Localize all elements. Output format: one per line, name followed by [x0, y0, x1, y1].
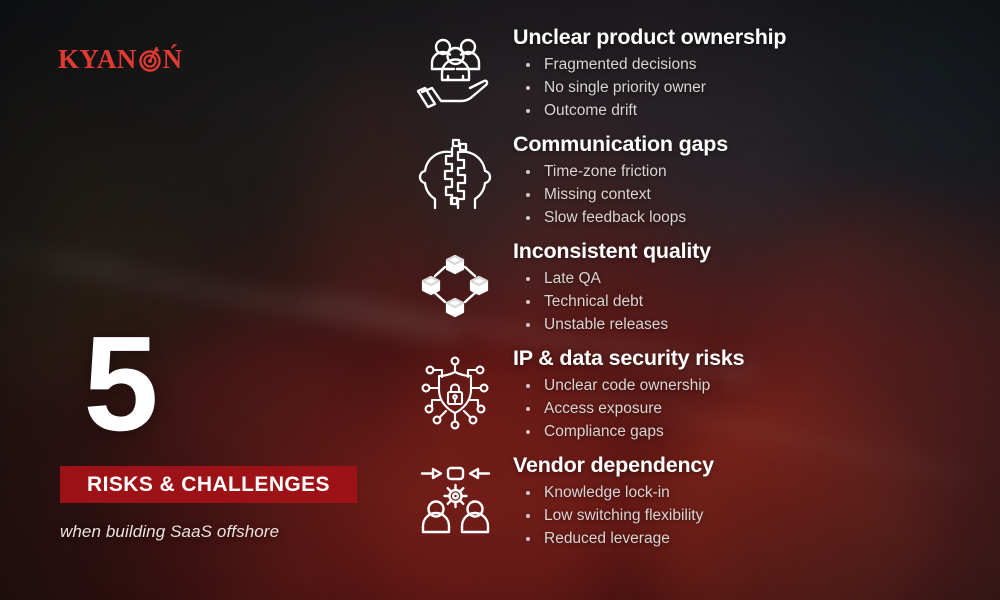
bullet-text: Knowledge lock-in	[544, 484, 670, 501]
logo-text-before: KYAN	[58, 44, 137, 75]
bullet-text: Reduced leverage	[544, 530, 670, 547]
bullet-dot-icon	[526, 300, 530, 304]
bullet-text: Compliance gaps	[544, 423, 664, 440]
bullet-text: Low switching flexibility	[544, 507, 703, 524]
bullet-list: Unclear code ownership Access exposure C…	[513, 374, 744, 443]
bullet-dot-icon	[526, 407, 530, 411]
list-item: IP & data security risks Unclear code ow…	[405, 343, 985, 450]
hero-block: 5 RISKS & CHALLENGES when building SaaS …	[0, 322, 400, 446]
list-item-bullet: Unstable releases	[513, 313, 711, 336]
bullet-dot-icon	[526, 170, 530, 174]
bullet-text: Slow feedback loops	[544, 209, 686, 226]
bullet-dot-icon	[526, 537, 530, 541]
hero-subtitle: when building SaaS offshore	[60, 522, 390, 542]
bullet-dot-icon	[526, 277, 530, 281]
list-item-bullet: Unclear code ownership	[513, 374, 744, 397]
bullet-text: Late QA	[544, 270, 601, 287]
bullet-list: Fragmented decisions No single priority …	[513, 53, 786, 122]
list-item-bullet: Outcome drift	[513, 99, 786, 122]
count-number: 5	[0, 322, 240, 446]
bullet-text: Unclear code ownership	[544, 377, 710, 394]
list-item: Unclear product ownership Fragmented dec…	[405, 22, 985, 129]
item-title: Inconsistent quality	[513, 239, 711, 263]
list-item-bullet: Compliance gaps	[513, 420, 744, 443]
bullet-text: No single priority owner	[544, 79, 706, 96]
item-title: Communication gaps	[513, 132, 728, 156]
bullet-text: Time-zone friction	[544, 163, 667, 180]
bullet-dot-icon	[526, 514, 530, 518]
list-item: Communication gaps Time-zone friction Mi…	[405, 129, 985, 236]
list-item-bullet: Late QA	[513, 267, 711, 290]
bullseye-target-icon	[137, 42, 163, 79]
list-item-bullet: Fragmented decisions	[513, 53, 786, 76]
badge-label: RISKS & CHALLENGES	[87, 473, 330, 497]
list-item-bullet: Low switching flexibility	[513, 504, 714, 527]
two-heads-puzzle-gap-icon	[405, 129, 505, 229]
bullet-text: Access exposure	[544, 400, 662, 417]
list-item-bullet: Knowledge lock-in	[513, 481, 714, 504]
list-item-bullet: Reduced leverage	[513, 527, 714, 550]
status-badge: RISKS & CHALLENGES	[60, 466, 357, 503]
kyanon-logo[interactable]: KYAN Ń	[58, 42, 183, 76]
list-item: Inconsistent quality Late QA Technical d…	[405, 236, 985, 343]
list-item-bullet: No single priority owner	[513, 76, 786, 99]
list-item-bullet: Technical debt	[513, 290, 711, 313]
bullet-dot-icon	[526, 491, 530, 495]
bullet-list: Late QA Technical debt Unstable releases	[513, 267, 711, 336]
bullet-dot-icon	[526, 63, 530, 67]
bullet-dot-icon	[526, 323, 530, 327]
item-title: Unclear product ownership	[513, 25, 786, 49]
bullet-dot-icon	[526, 193, 530, 197]
connected-cubes-network-icon	[405, 236, 505, 336]
bullet-text: Fragmented decisions	[544, 56, 697, 73]
list-item-bullet: Access exposure	[513, 397, 744, 420]
people-in-hand-icon	[405, 22, 505, 122]
bullet-text: Outcome drift	[544, 102, 637, 119]
bullet-dot-icon	[526, 430, 530, 434]
bullet-list: Time-zone friction Missing context Slow …	[513, 160, 728, 229]
logo-text-after: Ń	[163, 44, 183, 75]
bullet-dot-icon	[526, 384, 530, 388]
item-title: IP & data security risks	[513, 346, 744, 370]
bullet-list: Knowledge lock-in Low switching flexibil…	[513, 481, 714, 550]
list-item-bullet: Missing context	[513, 183, 728, 206]
shield-lock-circuit-icon	[405, 343, 505, 443]
risk-list: Unclear product ownership Fragmented dec…	[405, 22, 985, 557]
arrows-gear-people-icon	[405, 450, 505, 550]
bullet-text: Technical debt	[544, 293, 643, 310]
bullet-text: Unstable releases	[544, 316, 668, 333]
list-item-bullet: Time-zone friction	[513, 160, 728, 183]
list-item: Vendor dependency Knowledge lock-in Low …	[405, 450, 985, 557]
bullet-dot-icon	[526, 86, 530, 90]
bullet-text: Missing context	[544, 186, 651, 203]
bullet-dot-icon	[526, 216, 530, 220]
infographic-canvas: KYAN Ń 5 RISKS & CHALLENGES when buildin…	[0, 0, 1000, 600]
list-item-bullet: Slow feedback loops	[513, 206, 728, 229]
bullet-dot-icon	[526, 109, 530, 113]
item-title: Vendor dependency	[513, 453, 714, 477]
